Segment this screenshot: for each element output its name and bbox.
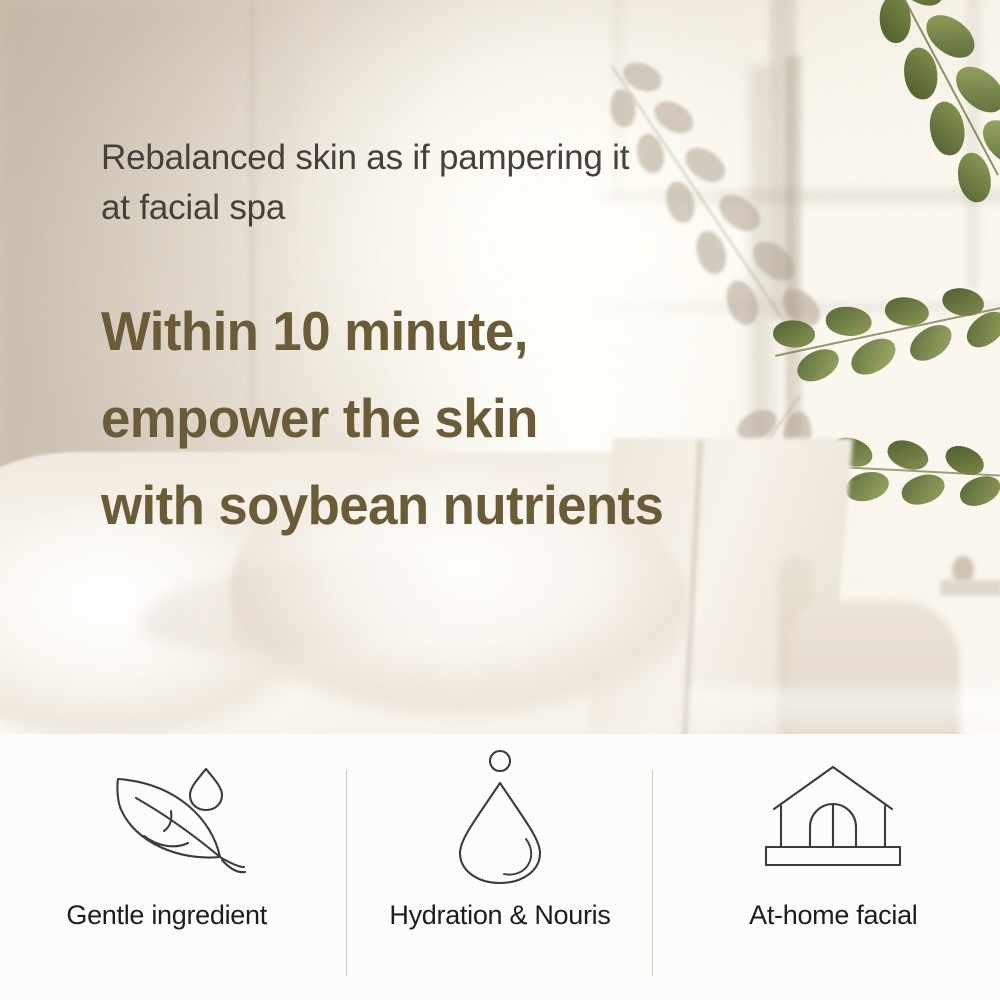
feature-label: Hydration & Nouris xyxy=(389,900,610,931)
feature-divider xyxy=(346,770,347,976)
product-banner: Rebalanced skin as if pampering it at fa… xyxy=(0,0,1000,1000)
feature-label: Gentle ingredient xyxy=(66,900,267,931)
feature-item-at-home-facial: At-home facial xyxy=(667,734,1000,1000)
hero-subhead-line: Rebalanced skin as if xyxy=(101,138,430,177)
feature-item-gentle-ingredient: Gentle ingredient xyxy=(0,734,333,1000)
hero-headline-line: with soybean nutrients xyxy=(101,462,773,549)
hero-headline: Within 10 minute, empower the skin with … xyxy=(101,288,773,549)
hero-headline-line: Within 10 minute, xyxy=(101,288,773,375)
leaf-with-droplet-icon xyxy=(84,734,249,900)
hero-subhead: Rebalanced skin as if pampering it at fa… xyxy=(101,133,661,233)
hero-copy: Rebalanced skin as if pampering it at fa… xyxy=(0,0,1000,734)
feature-item-hydration: Hydration & Nouris xyxy=(333,734,666,1000)
water-drop-icon xyxy=(440,734,560,900)
house-icon xyxy=(758,734,908,900)
feature-label: At-home facial xyxy=(749,900,917,931)
hero-headline-line: empower the skin xyxy=(101,375,773,462)
feature-divider xyxy=(652,770,653,976)
feature-strip: Gentle ingredient Hydration & Nouris xyxy=(0,734,1000,1000)
